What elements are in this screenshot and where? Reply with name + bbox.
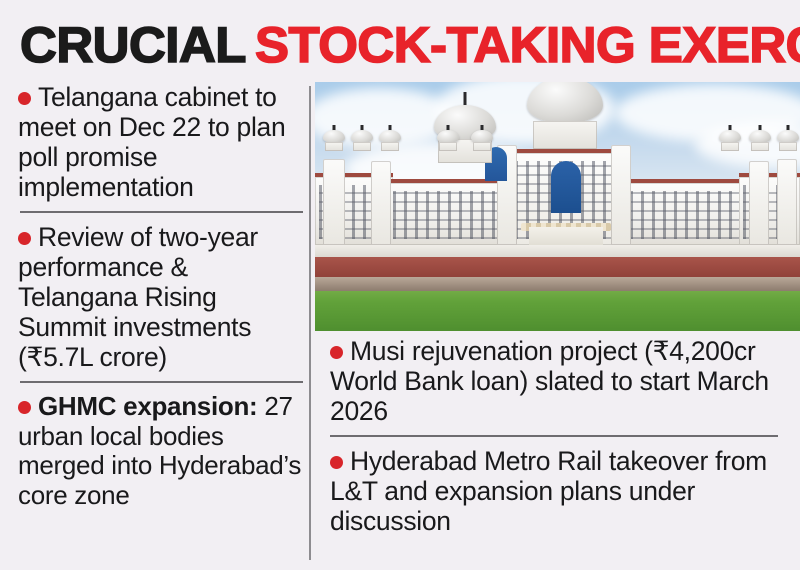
headline-part-red: STOCK-TAKING EXERCISE xyxy=(255,20,800,70)
bullet-text: Telangana cabinet to meet on Dec 22 to p… xyxy=(18,82,285,202)
bullet-item-musi-project: Musi rejuvenation project (₹4,200cr Worl… xyxy=(330,336,782,426)
column-divider xyxy=(309,86,311,560)
bullet-item-metro-rail: Hyderabad Metro Rail takeover from L&T a… xyxy=(330,446,782,536)
bullet-text: Musi rejuvenation project (₹4,200cr Worl… xyxy=(330,336,769,426)
item-divider xyxy=(20,211,303,213)
bullet-dot-icon xyxy=(18,401,31,414)
bullet-item-performance-review: Review of two-year performance & Telanga… xyxy=(18,222,303,372)
compound-wall xyxy=(315,257,800,279)
bullet-lead-text: GHMC expansion: xyxy=(38,391,257,421)
item-divider xyxy=(20,381,303,383)
headline-part-black: CRUCIAL xyxy=(20,20,246,70)
page-title: CRUCIAL STOCK-TAKING EXERCISE xyxy=(20,18,782,72)
infographic-page: CRUCIAL STOCK-TAKING EXERCISE xyxy=(0,0,800,570)
bullet-dot-icon xyxy=(18,92,31,105)
central-blue-arch xyxy=(551,161,581,213)
item-divider xyxy=(330,435,778,437)
bullet-item-cabinet-meeting: Telangana cabinet to meet on Dec 22 to p… xyxy=(18,82,303,202)
bullet-dot-icon xyxy=(18,232,31,245)
lawn-path xyxy=(315,277,800,291)
right-bullet-column: Musi rejuvenation project (₹4,200cr Worl… xyxy=(330,336,782,536)
secretariat-building-photo xyxy=(315,82,800,331)
left-bullet-column: Telangana cabinet to meet on Dec 22 to p… xyxy=(18,82,303,510)
bullet-text: Review of two-year performance & Telanga… xyxy=(18,222,258,372)
bullet-item-ghmc-expansion: GHMC expansion: 27 urban local bodies me… xyxy=(18,392,303,510)
bullet-dot-icon xyxy=(330,346,343,359)
bullet-dot-icon xyxy=(330,456,343,469)
bullet-text: Hyderabad Metro Rail takeover from L&T a… xyxy=(330,446,767,536)
